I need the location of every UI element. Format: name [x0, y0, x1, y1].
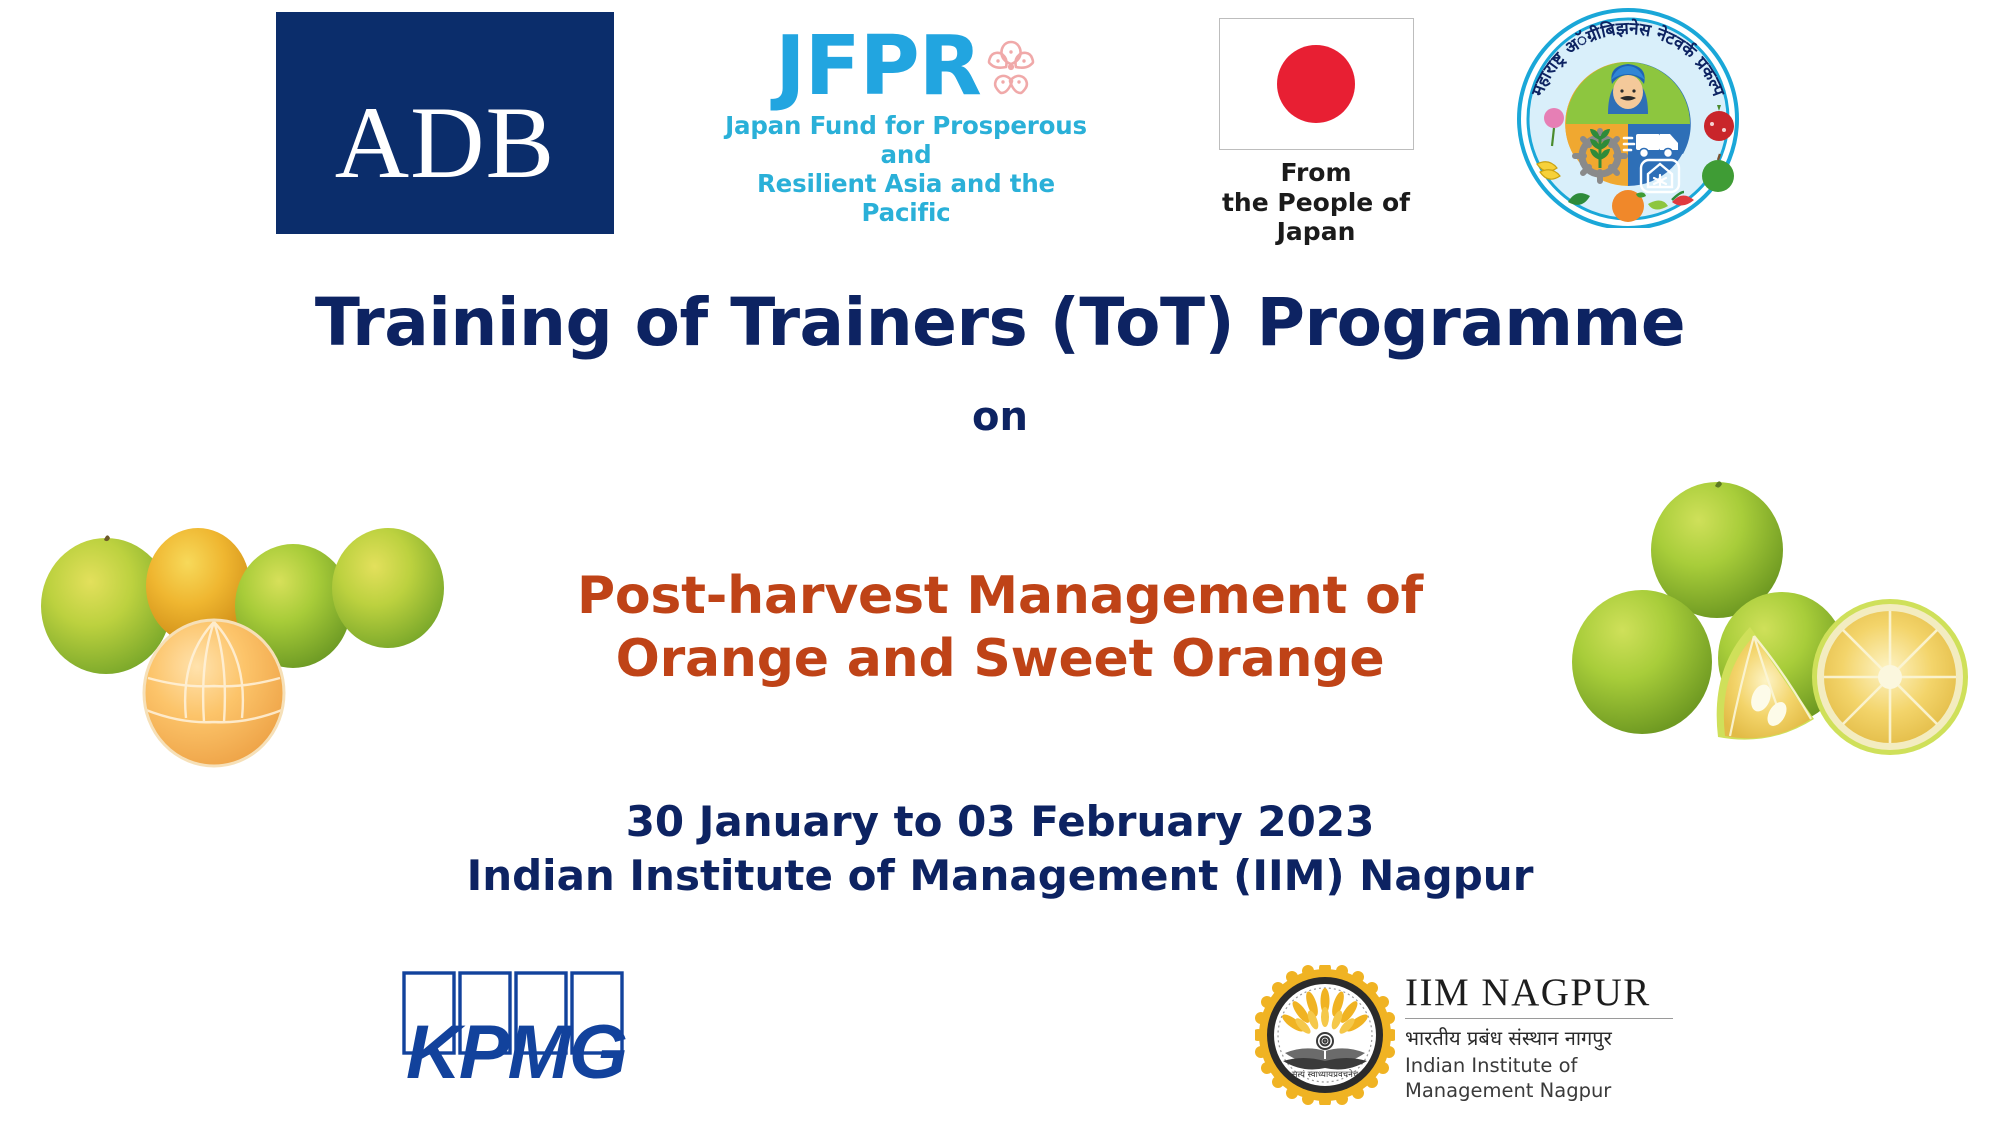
programme-title: Training of Trainers (ToT) Programme: [0, 288, 2000, 357]
slide-canvas: ADB JFPR: [0, 0, 2000, 1125]
partner-logo-strip: ADB JFPR: [0, 0, 2000, 235]
jfpr-tagline: Japan Fund for Prosperous and Resilient …: [716, 112, 1096, 228]
japan-caption-line2: the People of Japan: [1186, 188, 1446, 247]
iim-divider: [1405, 1018, 1673, 1019]
adb-logo: ADB: [276, 12, 614, 234]
iim-nagpur-text: IIM NAGPUR भारतीय प्रबंध संस्थान नागपुर …: [1405, 973, 1705, 1104]
iim-seal-icon: सत्यं स्वाध्यायप्रवचनेच: [1255, 965, 1395, 1105]
japan-caption: From the People of Japan: [1186, 158, 1446, 247]
programme-title-connector: on: [0, 395, 2000, 439]
jfpr-tagline-line2: Resilient Asia and the Pacific: [716, 170, 1096, 228]
iim-nagpur-logo: सत्यं स्वाध्यायप्रवचनेच IIM NAGPUR भारती…: [1255, 965, 1705, 1105]
oranges-photo: [18, 478, 458, 778]
farmer-icon: [1608, 64, 1648, 114]
sakura-blossom-icon: [985, 36, 1037, 103]
programme-venue: Indian Institute of Management (IIM) Nag…: [0, 849, 2000, 903]
magnet-logo: महाराष्ट्र अॅग्रीबिझनेस नेटवर्क प्रकल्प: [1512, 6, 1744, 228]
japan-caption-line1: From: [1186, 158, 1446, 188]
iim-nagpur-wordmark: IIM NAGPUR: [1405, 973, 1705, 1012]
jfpr-tagline-line1: Japan Fund for Prosperous and: [716, 112, 1096, 170]
jfpr-logo: JFPR: [716, 28, 1096, 208]
agri-gear-icon: [1575, 129, 1625, 181]
from-people-of-japan-logo: From the People of Japan: [1186, 18, 1446, 223]
iim-nagpur-hindi: भारतीय प्रबंध संस्थान नागपुर: [1405, 1026, 1705, 1051]
kpmg-wordmark: KPMG: [406, 1010, 626, 1095]
iim-seal-motto: सत्यं स्वाध्यायप्रवचनेच: [1292, 1069, 1359, 1080]
jfpr-wordmark: JFPR: [775, 28, 981, 106]
japan-sun-disc: [1277, 45, 1355, 123]
adb-wordmark: ADB: [335, 100, 555, 188]
programme-details: 30 January to 03 February 2023 Indian In…: [0, 795, 2000, 903]
sweet-oranges-photo: [1545, 462, 1995, 800]
programme-dates: 30 January to 03 February 2023: [0, 795, 2000, 849]
kpmg-logo: KPMG: [400, 968, 668, 1096]
jfpr-mark-row: JFPR: [716, 28, 1096, 106]
japan-flag-icon: [1219, 18, 1414, 150]
iim-nagpur-english: Indian Institute of Management Nagpur: [1405, 1053, 1705, 1104]
